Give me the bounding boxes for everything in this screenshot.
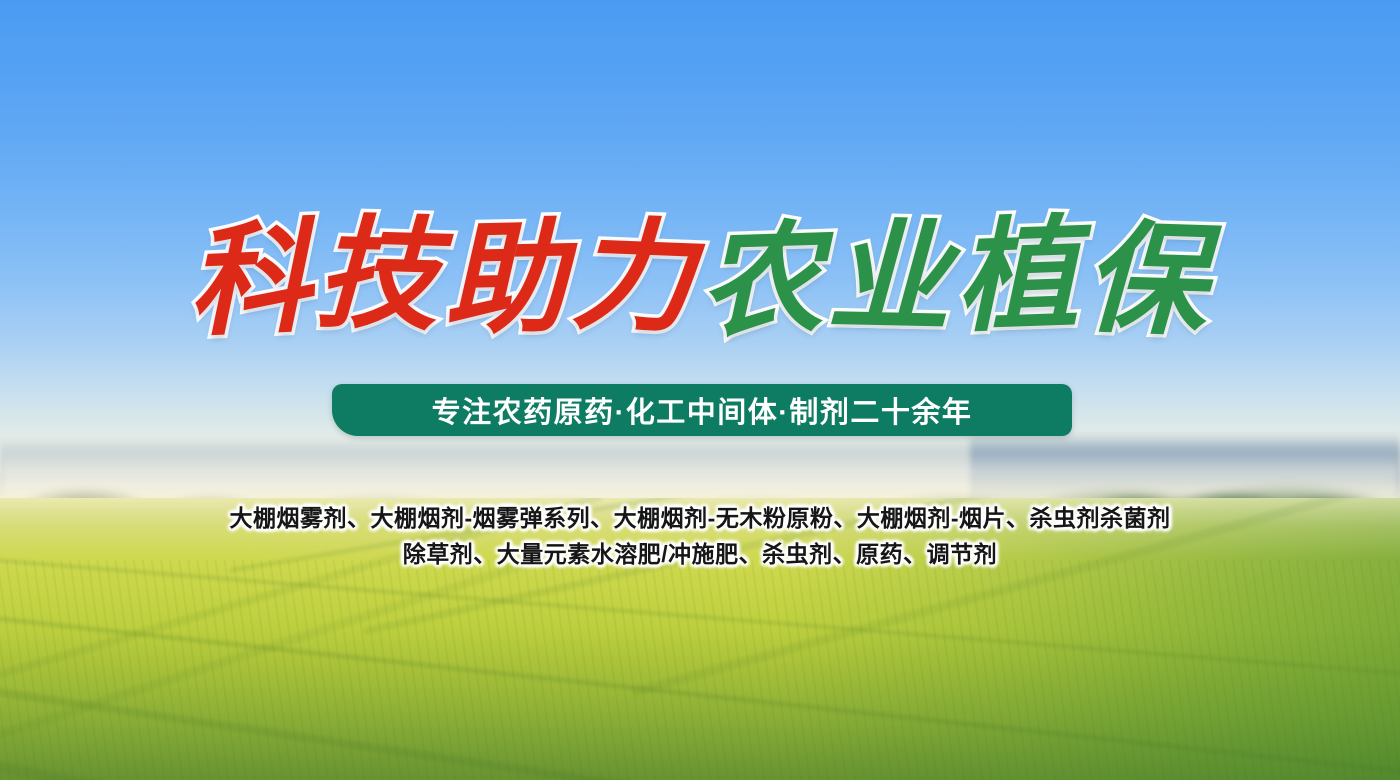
- headline-char-7: 植: [953, 202, 1086, 354]
- headline-char-5: 农: [698, 207, 831, 359]
- headline-char-3: 助: [442, 206, 573, 357]
- headline-char-6: 业: [826, 205, 957, 356]
- product-line-2: 除草剂、大量元素水溶肥/冲施肥、杀虫剂、原药、调节剂: [0, 536, 1400, 572]
- subtitle-text: 专注农药原药·化工中间体·制剂二十余年: [432, 389, 973, 431]
- promo-banner: 科技助力农业植保 专注农药原药·化工中间体·制剂二十余年 大棚烟雾剂、大棚烟剂-…: [0, 0, 1400, 780]
- headline-char-4: 力: [569, 203, 703, 356]
- headline-calligraphy: 科技助力农业植保: [0, 206, 1400, 354]
- headline-char-2: 技: [314, 201, 446, 353]
- banner-content: 科技助力农业植保 专注农药原药·化工中间体·制剂二十余年 大棚烟雾剂、大棚烟剂-…: [0, 0, 1400, 780]
- headline-char-1: 科: [185, 205, 319, 358]
- product-list: 大棚烟雾剂、大棚烟剂-烟雾弹系列、大棚烟剂-无木粉原粉、大棚烟剂-烟片、杀虫剂杀…: [0, 500, 1400, 572]
- headline-char-8: 保: [1082, 206, 1215, 358]
- subtitle-pill: 专注农药原药·化工中间体·制剂二十余年: [332, 384, 1072, 436]
- product-line-1: 大棚烟雾剂、大棚烟剂-烟雾弹系列、大棚烟剂-无木粉原粉、大棚烟剂-烟片、杀虫剂杀…: [0, 500, 1400, 536]
